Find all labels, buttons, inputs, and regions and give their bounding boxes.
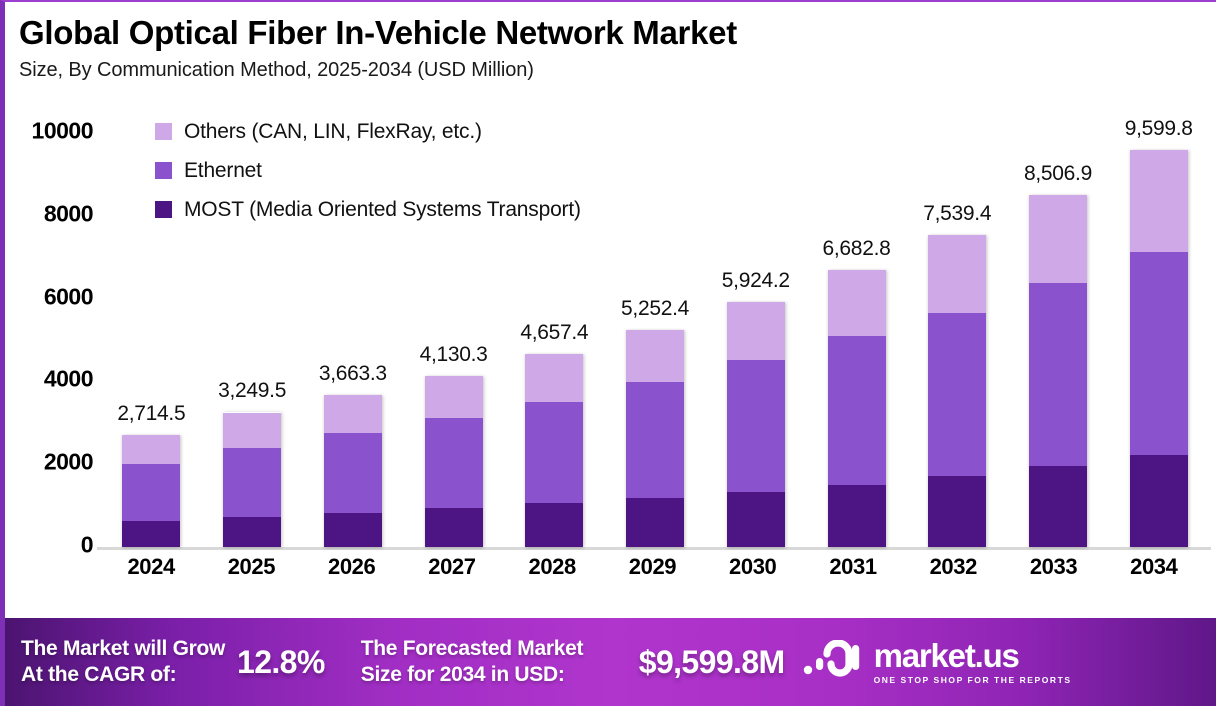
stacked-bar[interactable] <box>626 330 684 547</box>
bar-group[interactable]: 6,682.8 <box>806 110 907 547</box>
bar-segment[interactable] <box>324 433 382 512</box>
bar-group[interactable]: 5,252.4 <box>605 110 706 547</box>
bar-segment[interactable] <box>928 313 986 476</box>
page-title: Global Optical Fiber In-Vehicle Network … <box>19 16 737 51</box>
stacked-bar[interactable] <box>425 376 483 547</box>
legend-item: Others (CAN, LIN, FlexRay, etc.) <box>155 112 581 151</box>
x-axis-tick-label: 2033 <box>1003 554 1103 580</box>
stacked-bar[interactable] <box>727 302 785 547</box>
market-us-logo-icon <box>803 640 865 685</box>
y-axis: 0200040006000800010000 <box>5 110 93 550</box>
x-axis-tick-label: 2025 <box>201 554 301 580</box>
bar-segment[interactable] <box>928 476 986 547</box>
bar-group[interactable]: 5,924.2 <box>705 110 806 547</box>
stacked-bar[interactable] <box>525 354 583 547</box>
bar-total-label: 3,249.5 <box>218 379 286 403</box>
bar-segment[interactable] <box>425 376 483 418</box>
bar-segment[interactable] <box>828 270 886 335</box>
bar-segment[interactable] <box>525 503 583 547</box>
bar-segment[interactable] <box>1029 195 1087 283</box>
bar-segment[interactable] <box>525 402 583 504</box>
forecast-label-line2: Size for 2034 in USD: <box>361 662 631 688</box>
bar-total-label: 9,599.8 <box>1125 117 1193 141</box>
summary-banner: The Market will Grow At the CAGR of: 12.… <box>5 618 1216 706</box>
bar-segment[interactable] <box>223 448 281 518</box>
bar-segment[interactable] <box>425 418 483 508</box>
bar-segment[interactable] <box>626 498 684 547</box>
legend-item-label: Others (CAN, LIN, FlexRay, etc.) <box>184 120 482 144</box>
x-axis-baseline <box>97 547 1211 550</box>
stacked-bar[interactable] <box>928 235 986 547</box>
bar-total-label: 3,663.3 <box>319 362 387 386</box>
x-axis-tick-label: 2029 <box>602 554 702 580</box>
bar-total-label: 5,252.4 <box>621 297 689 321</box>
bar-segment[interactable] <box>223 413 281 448</box>
x-axis-tick-label: 2027 <box>402 554 502 580</box>
bar-segment[interactable] <box>223 517 281 547</box>
bar-segment[interactable] <box>1130 455 1188 547</box>
bar-total-label: 2,714.5 <box>117 402 185 426</box>
brand-logo[interactable]: market.us ONE STOP SHOP FOR THE REPORTS <box>803 639 1072 685</box>
forecast-label-line1: The Forecasted Market <box>361 636 631 662</box>
legend-item: Ethernet <box>155 151 581 190</box>
x-axis-tick-label: 2028 <box>502 554 602 580</box>
bar-total-label: 4,130.3 <box>420 343 488 367</box>
x-axis-tick-label: 2030 <box>703 554 803 580</box>
bar-total-label: 8,506.9 <box>1024 162 1092 186</box>
cagr-label: The Market will Grow At the CAGR of: <box>21 636 231 687</box>
bar-segment[interactable] <box>122 435 180 465</box>
x-axis: 2024202520262027202820292030203120322033… <box>101 554 1204 580</box>
bar-segment[interactable] <box>122 464 180 521</box>
y-axis-tick-label: 4000 <box>5 366 93 393</box>
x-axis-tick-label: 2031 <box>803 554 903 580</box>
chart-header: Global Optical Fiber In-Vehicle Network … <box>19 16 737 82</box>
bar-segment[interactable] <box>727 360 785 492</box>
bar-segment[interactable] <box>425 508 483 547</box>
page-subtitle: Size, By Communication Method, 2025-2034… <box>19 59 737 82</box>
forecast-label: The Forecasted Market Size for 2034 in U… <box>361 636 631 687</box>
legend-item-label: Ethernet <box>184 159 262 183</box>
bar-segment[interactable] <box>324 395 382 433</box>
bar-total-label: 6,682.8 <box>823 237 891 261</box>
legend-swatch-icon <box>155 123 172 140</box>
x-axis-tick-label: 2026 <box>302 554 402 580</box>
bar-segment[interactable] <box>1029 283 1087 466</box>
x-axis-tick-label: 2024 <box>101 554 201 580</box>
bar-segment[interactable] <box>727 492 785 547</box>
bar-group[interactable]: 8,506.9 <box>1008 110 1109 547</box>
y-axis-tick-label: 0 <box>5 532 93 559</box>
bar-segment[interactable] <box>1130 252 1188 455</box>
logo-wordmark: market.us <box>874 637 1019 674</box>
legend-item: MOST (Media Oriented Systems Transport) <box>155 190 581 229</box>
legend-swatch-icon <box>155 201 172 218</box>
y-axis-tick-label: 6000 <box>5 283 93 310</box>
bar-segment[interactable] <box>828 485 886 547</box>
stacked-bar[interactable] <box>828 270 886 547</box>
bar-segment[interactable] <box>525 354 583 402</box>
bar-segment[interactable] <box>727 302 785 361</box>
bar-total-label: 5,924.2 <box>722 269 790 293</box>
bar-segment[interactable] <box>928 235 986 313</box>
stacked-bar[interactable] <box>324 395 382 547</box>
logo-tagline: ONE STOP SHOP FOR THE REPORTS <box>874 675 1072 685</box>
bar-total-label: 7,539.4 <box>923 202 991 226</box>
legend-swatch-icon <box>155 162 172 179</box>
cagr-value: 12.8% <box>237 644 325 681</box>
x-axis-tick-label: 2034 <box>1104 554 1204 580</box>
logo-text-block: market.us ONE STOP SHOP FOR THE REPORTS <box>874 639 1072 685</box>
bar-segment[interactable] <box>626 330 684 382</box>
bar-group[interactable]: 7,539.4 <box>907 110 1008 547</box>
bar-segment[interactable] <box>1029 466 1087 547</box>
stacked-bar[interactable] <box>223 412 281 547</box>
bar-segment[interactable] <box>828 336 886 485</box>
bar-segment[interactable] <box>324 513 382 547</box>
y-axis-tick-label: 2000 <box>5 449 93 476</box>
cagr-label-line2: At the CAGR of: <box>21 662 231 688</box>
bar-segment[interactable] <box>1130 150 1188 252</box>
infographic-page: Global Optical Fiber In-Vehicle Network … <box>0 0 1216 706</box>
y-axis-tick-label: 8000 <box>5 200 93 227</box>
x-axis-tick-label: 2032 <box>903 554 1003 580</box>
stacked-bar[interactable] <box>1029 195 1087 547</box>
bar-total-label: 4,657.4 <box>520 321 588 345</box>
cagr-label-line1: The Market will Grow <box>21 636 231 662</box>
stacked-bar[interactable] <box>122 435 180 547</box>
bar-segment[interactable] <box>122 521 180 547</box>
legend-item-label: MOST (Media Oriented Systems Transport) <box>184 198 581 222</box>
bar-group[interactable]: 9,599.8 <box>1108 110 1209 547</box>
forecast-value: $9,599.8M <box>639 644 785 681</box>
y-axis-tick-label: 10000 <box>5 118 93 145</box>
bar-segment[interactable] <box>626 382 684 498</box>
chart-legend: Others (CAN, LIN, FlexRay, etc.)Ethernet… <box>155 112 581 229</box>
stacked-bar[interactable] <box>1130 150 1188 547</box>
